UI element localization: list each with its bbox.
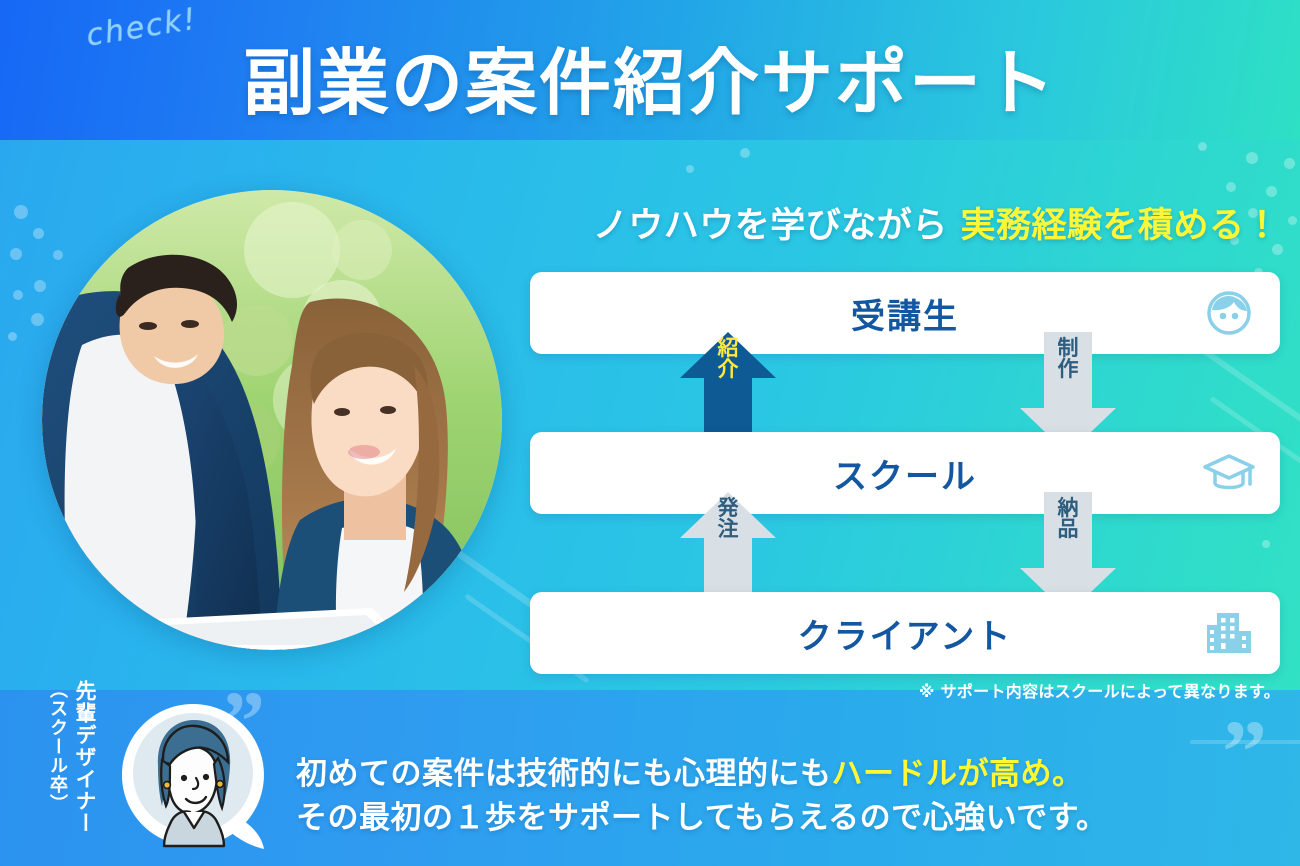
flow-gap-1: 紹 介 制 作 — [530, 354, 1280, 432]
flow-box-label: 受講生 — [851, 289, 959, 338]
page-title: 副業の案件紹介サポート — [0, 24, 1300, 129]
decor-dot — [8, 332, 17, 341]
subtitle-plain: ノウハウを学びながら — [593, 206, 961, 246]
decor-dot — [1284, 158, 1295, 169]
speaker-avatar — [118, 700, 268, 850]
decor-dot — [1198, 142, 1207, 151]
flow-diagram: 受講生 紹 介 — [530, 272, 1280, 674]
flow-box-client: クライアント — [530, 592, 1280, 674]
flow-box-label: スクール — [833, 449, 977, 498]
graduation-cap-icon — [1202, 446, 1256, 500]
arrow-label-char: 紹 — [680, 338, 776, 359]
arrow-label-char: 制 — [1020, 338, 1116, 359]
decor-dot — [33, 228, 44, 239]
testimonial-line1-plain: 初めての案件は技術的にも心理的にも — [296, 756, 832, 792]
subtitle: ノウハウを学びながら 実務経験を積める！ — [520, 197, 1280, 248]
decor-dot — [740, 148, 750, 158]
speaker-role-main: 先輩デザイナー — [73, 680, 97, 834]
arrow-label-char: 発 — [680, 498, 776, 519]
subtitle-highlight: 実務経験を積める！ — [960, 206, 1280, 246]
footnote: ※ サポート内容はスクールによって異なります。 — [520, 678, 1280, 702]
flow-box-label: クライアント — [798, 609, 1013, 658]
arrow-label-char: 介 — [680, 359, 776, 380]
infographic-root: ” ” check! 副業の案件紹介サポート — [0, 0, 1300, 866]
arrow-seisaku-label: 制 作 — [1020, 338, 1116, 381]
arrow-hacchuu-label: 発 注 — [680, 498, 776, 541]
speaker-role-sub: （スクール卒） — [47, 680, 68, 813]
hero-photo — [42, 190, 502, 650]
decor-dot — [34, 280, 46, 292]
decor-dot — [53, 250, 63, 260]
testimonial-line-2: その最初の１歩をサポートしてもらえるので心強いです。 — [296, 796, 1256, 840]
decor-dot — [31, 313, 44, 326]
arrow-label-char: 注 — [680, 519, 776, 540]
flow-box-school: スクール — [530, 432, 1280, 514]
testimonial-line-1: 初めての案件は技術的にも心理的にもハードルが高め。 — [296, 752, 1256, 796]
decor-dot — [1266, 186, 1277, 197]
decor-dot — [1226, 182, 1236, 192]
testimonial-line1-highlight: ハードルが高め。 — [832, 756, 1084, 792]
arrow-label-char: 作 — [1020, 359, 1116, 380]
decor-dot — [10, 248, 22, 260]
office-building-icon — [1202, 606, 1256, 660]
arrow-shoukai-label: 紹 介 — [680, 338, 776, 381]
arrow-label-char: 品 — [1020, 519, 1116, 540]
decor-dot — [14, 205, 28, 219]
arrow-nouhin-label: 納 品 — [1020, 498, 1116, 541]
decor-dot — [686, 165, 694, 173]
decor-dot — [1246, 152, 1258, 164]
student-face-icon — [1202, 286, 1256, 340]
decor-dot — [13, 290, 23, 300]
decor-dot — [1288, 216, 1297, 225]
flow-gap-2: 発 注 納 品 — [530, 514, 1280, 592]
testimonial-text: 初めての案件は技術的にも心理的にもハードルが高め。 その最初の１歩をサポートして… — [296, 752, 1256, 840]
arrow-label-char: 納 — [1020, 498, 1116, 519]
speaker-role-caption: 先輩デザイナー（スクール卒） — [44, 680, 100, 855]
flow-box-student: 受講生 — [530, 272, 1280, 354]
